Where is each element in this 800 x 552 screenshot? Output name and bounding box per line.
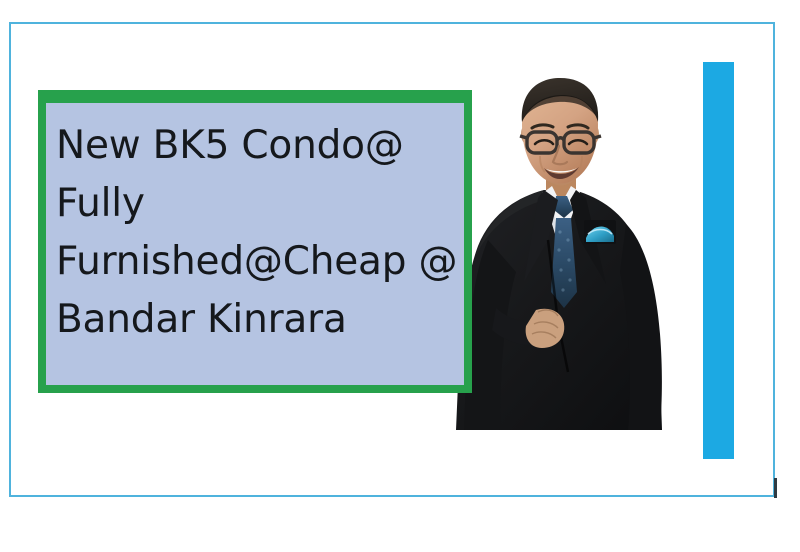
headline-line-1: New BK5 Condo@ [56,117,458,175]
banner-canvas: New BK5 Condo@ Fully Furnished@Cheap @ B… [0,0,800,552]
frame-corner-tick [774,478,777,498]
headline-line-4: Bandar Kinrara [56,291,458,349]
portrait-stage [440,72,700,458]
headline-text-content: New BK5 Condo@ Fully Furnished@Cheap @ B… [46,103,464,385]
right-vertical-accent-bar [703,62,734,459]
pocket-square [584,220,616,244]
headline-text-box: New BK5 Condo@ Fully Furnished@Cheap @ B… [38,90,472,393]
agent-portrait-photo [440,72,700,458]
headline-line-2: Fully [56,175,458,233]
headline-line-3: Furnished@Cheap @ [56,233,458,291]
portrait-illustration [440,72,700,458]
